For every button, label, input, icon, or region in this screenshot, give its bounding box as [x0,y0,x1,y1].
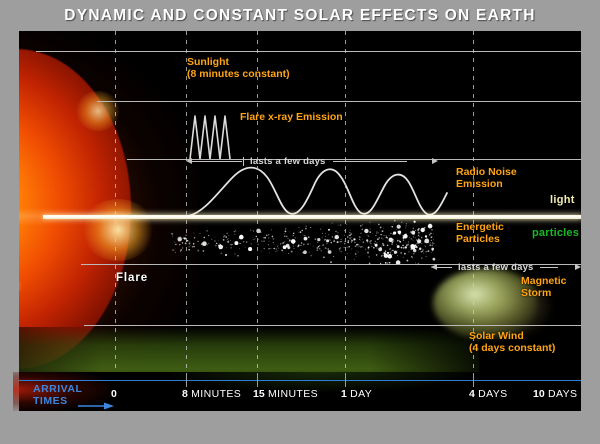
tick-unit: MINUTES [188,388,241,400]
label-magnetic-storm: Magnetic Storm [521,275,567,300]
timeline-tick [345,373,346,387]
time-guide-1-day [345,31,346,411]
arrow-line-right [540,267,558,268]
tick-value: 0 [111,388,117,400]
timeline-tick-label: 0 [111,388,117,400]
arrival-times-caption: ARRIVAL TIMES [33,384,82,407]
time-guide-15-minutes [257,31,258,411]
timeline-tick [186,373,187,387]
timeline-tick-label: 8 MINUTES [182,388,241,400]
radio-noise-duration-arrow: lasts a few days [186,155,438,167]
separator-sunlight-top [36,51,581,52]
label-flare-xray-emission: Flare x-ray Emission [240,111,343,123]
page-title: DYNAMIC AND CONSTANT SOLAR EFFECTS ON EA… [64,7,535,25]
separator-xray-top [97,101,581,102]
label-light-category: light [550,194,575,206]
radio-noise-duration-label: lasts a few days [250,156,326,167]
diagram-panel: lasts a few days lasts a few days Sunlig… [19,31,581,411]
label-solar-wind: Solar Wind (4 days constant) [469,330,555,355]
timeline-tick-label: 1 DAY [341,388,372,400]
timeline-tick-label: 4 DAYS [469,388,508,400]
magnetic-storm-duration-arrow: lasts a few days [431,261,581,273]
light-particle-divider [43,215,581,219]
arrival-arrow-icon [78,402,114,410]
time-guide-8-minutes [186,31,187,411]
title-bar: DYNAMIC AND CONSTANT SOLAR EFFECTS ON EA… [0,0,600,32]
label-sunlight: Sunlight (8 minutes constant) [187,56,290,81]
label-energetic-particles: Energetic Particles [456,221,504,246]
tick-unit: MINUTES [265,388,318,400]
magnetic-storm-duration-label: lasts a few days [458,262,534,273]
arrow-line-right [333,161,407,162]
tick-value: 15 [253,388,265,400]
label-particles-category: particles [532,227,579,239]
flare-xray-waveform [190,116,230,159]
label-radio-noise-emission: Radio Noise Emission [456,166,517,191]
tick-unit: DAY [347,388,372,400]
arrival-times-line1: ARRIVAL [33,384,82,396]
tick-unit: DAYS [475,388,508,400]
arrival-times-line2: TIMES [33,396,82,408]
separator-solarwind-top [84,325,581,326]
arrow-head-right [575,264,581,270]
timeline-axis-line [19,380,581,381]
arrow-head-left [431,264,437,270]
timeline-tick [257,373,258,387]
arrow-tick [243,157,244,166]
arrow-line-left [436,267,452,268]
arrow-head-left [186,158,192,164]
tick-unit: DAYS [545,388,578,400]
timeline-tick-label: 10 DAYS [533,388,577,400]
tick-value: 10 [533,388,545,400]
time-guide-0 [115,31,116,411]
poster-root: DYNAMIC AND CONSTANT SOLAR EFFECTS ON EA… [0,0,600,444]
arrival-times-timeline: ARRIVAL TIMES 08 MINUTES15 MINUTES1 DAY4… [19,372,581,411]
arrow-head-right [432,158,438,164]
timeline-tick [473,373,474,387]
timeline-tick-label: 15 MINUTES [253,388,318,400]
arrow-line-left [191,161,242,162]
label-flare: Flare [116,272,148,284]
